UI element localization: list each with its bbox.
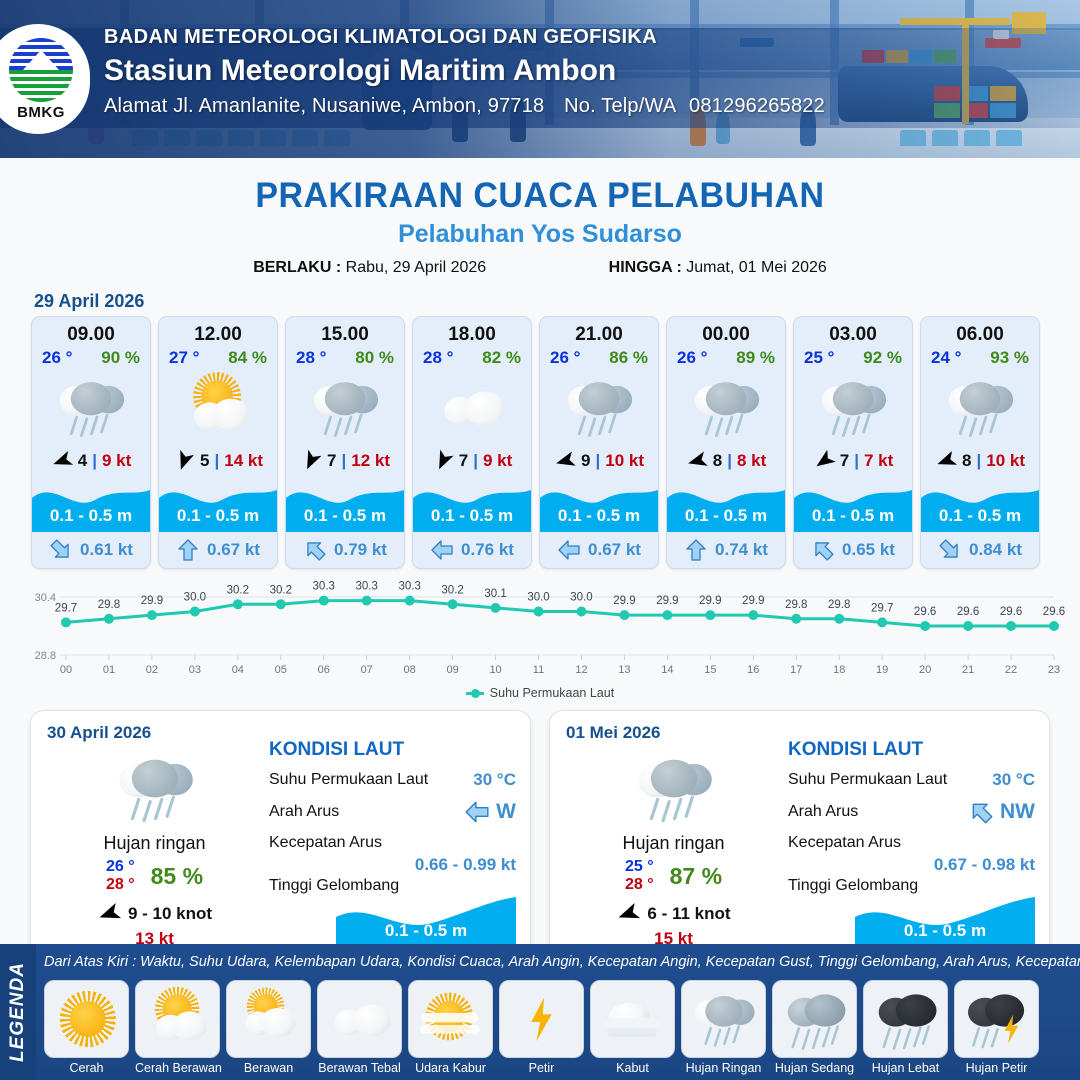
cloud-white <box>465 391 505 426</box>
current-speed: 0.79 kt <box>334 540 387 560</box>
until-label: HINGGA : <box>609 259 682 276</box>
temp-humidity-row: 25 °92 % <box>794 346 912 368</box>
panel-wind-speed: 6 - 11 knot <box>647 904 730 924</box>
wind-row: 8|10 kt <box>921 446 1039 476</box>
rain-streak <box>715 417 724 437</box>
cloud-grey <box>650 760 696 798</box>
legend-item[interactable]: Berawan Tebal <box>317 980 402 1075</box>
cloud-grey <box>71 382 111 415</box>
cloud-grey <box>325 382 365 415</box>
fog-band <box>604 1018 660 1027</box>
weather-icon-cerah-berawan <box>142 989 213 1049</box>
wind-speed: 7 <box>327 451 336 471</box>
current-row: 0.84 kt <box>921 532 1039 568</box>
weather-icon-cerah-berawan <box>179 375 256 439</box>
legend-item-label: Kabut <box>590 1061 675 1075</box>
sea-conditions: KONDISI LAUTSuhu Permukaan Laut30 °CArah… <box>269 739 516 949</box>
svg-text:30.4: 30.4 <box>35 592 56 604</box>
rain-streak <box>791 1027 800 1049</box>
legend-icon-box <box>590 980 675 1058</box>
rain-streak <box>713 1028 721 1047</box>
legend-item-label: Hujan Lebat <box>863 1061 948 1075</box>
rain-streak <box>979 415 988 435</box>
weather-icon-cerah <box>51 989 122 1049</box>
wave-height-block: 0.1 - 0.5 m <box>667 478 785 532</box>
wave-height-value: 0.1 - 0.5 m <box>286 506 404 526</box>
humidity: 90 % <box>101 348 140 368</box>
weather-icon-berawan <box>324 989 395 1049</box>
station-name: Stasiun Meteorologi Maritim Ambon <box>104 54 825 88</box>
current-speed: 0.76 kt <box>461 540 514 560</box>
svg-text:28.8: 28.8 <box>35 650 56 662</box>
svg-text:30.2: 30.2 <box>270 584 292 596</box>
legend-icon-box <box>226 980 311 1058</box>
legend-item[interactable]: Petir <box>499 980 584 1075</box>
legend-item[interactable]: Hujan Sedang <box>772 980 857 1075</box>
legend-item-label: Hujan Ringan <box>681 1061 766 1075</box>
panel-weather-icon <box>566 745 781 831</box>
wind-row: 9|10 kt <box>540 446 658 476</box>
weather-icon-berawan-sun <box>233 989 304 1049</box>
temp-max: 28 ° <box>625 876 654 894</box>
current-direction-label: Arah Arus <box>269 803 339 821</box>
wind-row: 7|9 kt <box>413 446 531 476</box>
rain-streak <box>735 414 744 434</box>
svg-text:29.7: 29.7 <box>55 602 77 614</box>
wave-height-value: 0.1 - 0.5 m <box>667 506 785 526</box>
wind-speed: 9 <box>581 451 590 471</box>
rain-streak <box>852 415 861 435</box>
rain-streak <box>672 798 682 821</box>
rain-streak <box>862 414 871 434</box>
panel-condition: Hujan ringan <box>566 833 781 854</box>
rain-streak <box>723 1027 731 1046</box>
daily-forecast-panel[interactable]: 01 Mei 2026Hujan ringan25 °28 °87 %6 - 1… <box>549 710 1050 958</box>
legend-item[interactable]: Udara Kabur <box>408 980 493 1075</box>
forecast-time: 18.00 <box>413 317 531 346</box>
svg-text:10: 10 <box>489 664 501 676</box>
wind-separator: | <box>341 451 346 471</box>
weather-icon-udara-kabur <box>415 989 486 1049</box>
svg-text:22: 22 <box>1005 664 1017 676</box>
svg-text:30.2: 30.2 <box>227 584 249 596</box>
weather-icon-hujan-ringan <box>306 375 383 439</box>
current-direction-arrow-icon <box>176 538 200 562</box>
legend-item-label: Hujan Sedang <box>772 1061 857 1075</box>
until-value: Jumat, 01 Mei 2026 <box>686 259 827 276</box>
sst-chart: 30.428.800010203040506070809101112131415… <box>14 579 1066 684</box>
current-speed-label: Kecepatan Arus <box>788 834 1035 852</box>
panel-left-column: Hujan ringan25 °28 °87 %6 - 11 knot15 kt <box>566 745 781 949</box>
svg-text:30.3: 30.3 <box>398 581 420 593</box>
forecast-time: 06.00 <box>921 317 1039 346</box>
forecast-card-row: 09.0026 °90 %4|9 kt0.1 - 0.5 m0.61 kt12.… <box>0 316 1080 569</box>
weather-condition-icon <box>540 368 658 446</box>
rain-streak <box>832 415 841 435</box>
temp-min: 25 ° <box>625 858 654 876</box>
svg-text:29.8: 29.8 <box>98 599 120 611</box>
wave-height-block: 0.1 - 0.5 m <box>286 478 404 532</box>
air-temperature: 25 ° <box>804 348 834 368</box>
humidity: 93 % <box>990 348 1029 368</box>
rain-streak <box>725 415 734 435</box>
cloud-grey <box>579 382 619 415</box>
cloud-grey <box>960 382 1000 415</box>
forecast-day-label: 29 April 2026 <box>34 291 1080 312</box>
cloud-grey <box>705 996 742 1027</box>
rain-streak <box>732 1025 740 1044</box>
legend-item-label: Cerah <box>44 1061 129 1075</box>
wind-separator: | <box>595 451 600 471</box>
forecast-card[interactable]: 00.0026 °89 %8|8 kt0.1 - 0.5 m0.74 kt <box>666 316 786 569</box>
chart-legend-label: Suhu Permukaan Laut <box>490 686 614 700</box>
current-row: 0.67 kt <box>159 532 277 568</box>
weather-icon-hujan-ringan <box>941 375 1018 439</box>
title-block: PRAKIRAAN CUACA PELABUHAN Pelabuhan Yos … <box>0 176 1080 277</box>
gust-speed: 9 kt <box>483 451 512 471</box>
temp-humidity-row: 28 °80 % <box>286 346 404 368</box>
legend-item[interactable]: Kabut <box>590 980 675 1075</box>
sea-conditions: KONDISI LAUTSuhu Permukaan Laut30 °CArah… <box>788 739 1035 949</box>
svg-text:05: 05 <box>275 664 287 676</box>
forecast-card[interactable]: 09.0026 °90 %4|9 kt0.1 - 0.5 m0.61 kt <box>31 316 151 569</box>
legend-icon-box <box>499 980 584 1058</box>
wave-height-block: 0.1 - 0.5 m <box>32 478 150 532</box>
wind-direction-arrow-icon <box>552 448 579 475</box>
wind-separator: | <box>92 451 97 471</box>
wave-height-value: 0.1 - 0.5 m <box>32 506 150 526</box>
svg-text:16: 16 <box>747 664 759 676</box>
lightning-bolt <box>1004 1015 1019 1044</box>
forecast-time: 15.00 <box>286 317 404 346</box>
wave-height-block: 0.1 - 0.5 m <box>413 478 531 532</box>
legend-bar: LEGENDA Dari Atas Kiri : Waktu, Suhu Uda… <box>0 944 1080 1080</box>
svg-text:30.2: 30.2 <box>441 584 463 596</box>
wind-speed: 7 <box>459 451 468 471</box>
weather-condition-icon <box>413 368 531 446</box>
sst-value: 30 °C <box>992 770 1035 790</box>
rain-streak <box>972 1027 981 1047</box>
wind-direction-arrow-icon <box>428 446 457 475</box>
current-speed-value: 0.66 - 0.99 kt <box>269 855 516 875</box>
wave-height-block: 0.1 - 0.5 m <box>540 478 658 532</box>
wind-speed: 8 <box>713 451 722 471</box>
current-direction-arrow-icon <box>933 533 967 567</box>
weather-condition-icon <box>921 368 1039 446</box>
gust-speed: 10 kt <box>986 451 1025 471</box>
phone-label: No. Telp/WA <box>564 95 675 117</box>
current-direction-arrow-icon <box>806 533 840 567</box>
cloud-white <box>212 399 249 430</box>
svg-text:29.9: 29.9 <box>656 595 678 607</box>
weather-icon-hujan-ringan <box>814 375 891 439</box>
gust-speed: 8 kt <box>737 451 766 471</box>
rain-streak <box>684 795 694 818</box>
phone-number: 081296265822 <box>689 95 825 117</box>
wave-row: Tinggi Gelombang0.1 - 0.5 m <box>269 877 516 949</box>
wind-speed: 4 <box>78 451 87 471</box>
wind-separator: | <box>727 451 732 471</box>
svg-text:11: 11 <box>533 664 544 676</box>
sea-conditions-header: KONDISI LAUT <box>788 739 1035 761</box>
svg-text:04: 04 <box>232 664 244 676</box>
legend-item[interactable]: Berawan <box>226 980 311 1075</box>
current-direction-arrow-icon <box>963 794 1000 831</box>
haze-band <box>420 1025 480 1034</box>
svg-text:09: 09 <box>446 664 458 676</box>
chart-legend: Suhu Permukaan Laut <box>0 686 1080 700</box>
current-row: 0.61 kt <box>32 532 150 568</box>
bmkg-emblem-icon <box>9 38 73 102</box>
sst-label: Suhu Permukaan Laut <box>269 771 428 789</box>
temp-humidity-row: 26 °86 % <box>540 346 658 368</box>
sst-row: Suhu Permukaan Laut30 °C <box>788 770 1035 790</box>
validity-row: BERLAKU : Rabu, 29 April 2026 HINGGA : J… <box>0 259 1080 277</box>
rain-streak <box>598 415 607 435</box>
current-speed: 0.74 kt <box>715 540 768 560</box>
weather-icon-hujan-ringan <box>688 989 759 1049</box>
current-direction-value: W <box>496 800 516 824</box>
rain-streak <box>130 798 140 821</box>
current-direction-arrow-icon <box>464 799 490 825</box>
legend-item[interactable]: Cerah Berawan <box>135 980 220 1075</box>
current-direction-value-group: W <box>464 799 516 825</box>
air-temperature: 28 ° <box>296 348 326 368</box>
svg-text:29.6: 29.6 <box>957 606 979 618</box>
current-speed: 0.65 kt <box>842 540 895 560</box>
rain-streak <box>842 417 851 437</box>
rain-streak <box>913 1026 922 1048</box>
cloud-grey <box>131 760 177 798</box>
forecast-card[interactable]: 06.0024 °93 %8|10 kt0.1 - 0.5 m0.84 kt <box>920 316 1040 569</box>
svg-text:17: 17 <box>790 664 802 676</box>
forecast-time: 09.00 <box>32 317 150 346</box>
svg-text:29.8: 29.8 <box>785 599 807 611</box>
temp-humidity-row: 26 °89 % <box>667 346 785 368</box>
forecast-card[interactable]: 12.0027 °84 %5|14 kt0.1 - 0.5 m0.67 kt <box>158 316 278 569</box>
svg-text:00: 00 <box>60 664 72 676</box>
svg-text:29.7: 29.7 <box>871 602 893 614</box>
panel-wave-block: 0.1 - 0.5 m <box>788 897 1035 949</box>
svg-text:18: 18 <box>833 664 845 676</box>
cloud-grey <box>805 994 846 1026</box>
forecast-card[interactable]: 03.0025 °92 %7|7 kt0.1 - 0.5 m0.65 kt <box>793 316 913 569</box>
wave-height-value: 0.1 - 0.5 m <box>921 506 1039 526</box>
current-row: 0.79 kt <box>286 532 404 568</box>
panel-temp-humidity: 26 °28 °85 % <box>47 858 262 895</box>
legend-icon-box <box>135 980 220 1058</box>
wind-direction-arrow-icon <box>808 446 839 477</box>
panel-wave-value: 0.1 - 0.5 m <box>855 921 1035 941</box>
rain-streak <box>70 415 79 435</box>
air-temperature: 27 ° <box>169 348 199 368</box>
legend-icon-box <box>863 980 948 1058</box>
panel-temp-humidity: 25 °28 °87 % <box>566 858 781 895</box>
wind-row: 7|7 kt <box>794 446 912 476</box>
gust-speed: 12 kt <box>351 451 390 471</box>
svg-text:30.0: 30.0 <box>570 592 592 604</box>
panel-left-column: Hujan ringan26 °28 °85 %9 - 10 knot13 kt <box>47 745 262 949</box>
weather-condition-icon <box>794 368 912 446</box>
svg-text:03: 03 <box>189 664 201 676</box>
svg-text:06: 06 <box>318 664 330 676</box>
cloud-grey <box>833 382 873 415</box>
forecast-card[interactable]: 18.0028 °82 %7|9 kt0.1 - 0.5 m0.76 kt <box>412 316 532 569</box>
rain-streak <box>649 798 659 821</box>
legend-item[interactable]: Hujan Ringan <box>681 980 766 1075</box>
weather-condition-icon <box>286 368 404 446</box>
svg-text:08: 08 <box>404 664 416 676</box>
humidity: 86 % <box>609 348 648 368</box>
legend-icon-box <box>408 980 493 1058</box>
rain-streak <box>165 795 175 818</box>
wind-direction-arrow-icon <box>94 898 125 929</box>
current-speed-row: Kecepatan Arus0.67 - 0.98 kt <box>788 834 1035 875</box>
fog-band <box>607 1028 656 1037</box>
gust-speed: 14 kt <box>224 451 263 471</box>
wind-direction-arrow-icon <box>683 448 710 475</box>
humidity: 84 % <box>228 348 267 368</box>
cloud-white <box>173 1011 207 1040</box>
forecast-time: 03.00 <box>794 317 912 346</box>
legend-item-label: Petir <box>499 1061 584 1075</box>
sst-label: Suhu Permukaan Laut <box>788 771 947 789</box>
valid-label: BERLAKU : <box>253 259 341 276</box>
page-header: BMKG BADAN METEOROLOGI KLIMATOLOGI DAN G… <box>0 0 1080 158</box>
svg-text:29.6: 29.6 <box>1000 606 1022 618</box>
svg-text:21: 21 <box>962 664 974 676</box>
sun-disc <box>70 1001 106 1037</box>
wave-height-block: 0.1 - 0.5 m <box>159 478 277 532</box>
current-row: 0.74 kt <box>667 532 785 568</box>
current-direction-label: Arah Arus <box>788 803 858 821</box>
panel-weather-icon <box>47 745 262 831</box>
gust-speed: 7 kt <box>864 451 893 471</box>
wind-separator: | <box>473 451 478 471</box>
valid-value: Rabu, 29 April 2026 <box>346 259 487 276</box>
svg-text:12: 12 <box>575 664 587 676</box>
weather-icon-hujan-lebat <box>870 989 941 1049</box>
panel-temps: 26 °28 ° <box>106 858 135 895</box>
rain-streak <box>354 414 363 434</box>
daily-forecast-panel[interactable]: 30 April 2026Hujan ringan26 °28 °85 %9 -… <box>30 710 531 958</box>
wind-direction-arrow-icon <box>170 447 198 475</box>
legend-icon-box <box>317 980 402 1058</box>
panel-wind-speed: 9 - 10 knot <box>128 904 212 924</box>
rain-streak <box>903 1028 912 1050</box>
svg-text:02: 02 <box>146 664 158 676</box>
panel-wave-value: 0.1 - 0.5 m <box>336 921 516 941</box>
svg-text:29.9: 29.9 <box>699 595 721 607</box>
weather-icon-hujan-petir <box>961 989 1032 1049</box>
bmkg-logo-text: BMKG <box>17 104 65 121</box>
wind-direction-arrow-icon <box>613 898 644 929</box>
svg-text:29.6: 29.6 <box>914 606 936 618</box>
station-contact: Alamat Jl. Amanlanite, Nusaniwe, Ambon, … <box>104 95 825 118</box>
gust-speed: 9 kt <box>102 451 131 471</box>
current-speed: 0.67 kt <box>588 540 641 560</box>
legend-item[interactable]: Hujan Petir <box>954 980 1039 1075</box>
weather-icon-hujan-sedang <box>779 989 850 1049</box>
rain-streak <box>812 1028 821 1050</box>
svg-text:29.9: 29.9 <box>742 595 764 607</box>
rain-streak <box>588 417 597 437</box>
rain-streak <box>990 1028 999 1048</box>
forecast-card[interactable]: 15.0028 °80 %7|12 kt0.1 - 0.5 m0.79 kt <box>285 316 405 569</box>
wave-label: Tinggi Gelombang <box>269 877 516 895</box>
agency-name: BADAN METEOROLOGI KLIMATOLOGI DAN GEOFIS… <box>104 26 825 49</box>
legend-icon-box <box>44 980 129 1058</box>
weather-condition-icon <box>32 368 150 446</box>
humidity: 89 % <box>736 348 775 368</box>
wave-label: Tinggi Gelombang <box>788 877 1035 895</box>
panel-humidity: 87 % <box>670 863 722 890</box>
panel-wind-row: 6 - 11 knot <box>566 902 781 926</box>
temp-humidity-row: 26 °90 % <box>32 346 150 368</box>
current-direction-row: Arah ArusW <box>269 799 516 825</box>
forecast-time: 00.00 <box>667 317 785 346</box>
air-temperature: 24 ° <box>931 348 961 368</box>
sea-conditions-header: KONDISI LAUT <box>269 739 516 761</box>
weather-icon-hujan-ringan <box>52 375 129 439</box>
svg-text:01: 01 <box>103 664 115 676</box>
lightning-bolt <box>530 998 553 1041</box>
forecast-card[interactable]: 21.0026 °86 %9|10 kt0.1 - 0.5 m0.67 kt <box>539 316 659 569</box>
humidity: 82 % <box>482 348 521 368</box>
current-direction-value: NW <box>1000 800 1035 824</box>
svg-text:30.0: 30.0 <box>184 592 206 604</box>
rain-streak <box>705 415 714 435</box>
rain-streak <box>882 1027 891 1049</box>
svg-text:30.3: 30.3 <box>313 581 335 593</box>
wind-speed: 8 <box>962 451 971 471</box>
page-title: PRAKIRAAN CUACA PELABUHAN <box>16 176 1064 216</box>
rain-streak <box>344 415 353 435</box>
humidity: 80 % <box>355 348 394 368</box>
rain-streak <box>822 1026 831 1048</box>
station-address: Alamat Jl. Amanlanite, Nusaniwe, Ambon, … <box>104 95 544 117</box>
current-speed: 0.67 kt <box>207 540 260 560</box>
air-temperature: 28 ° <box>423 348 453 368</box>
rain-streak <box>969 417 978 437</box>
weather-icon-petir <box>506 989 577 1049</box>
panel-temps: 25 °28 ° <box>625 858 654 895</box>
rain-streak <box>578 415 587 435</box>
daily-panels: 30 April 2026Hujan ringan26 °28 °85 %9 -… <box>0 700 1080 958</box>
haze-band <box>422 1013 478 1022</box>
current-direction-arrow-icon <box>430 538 454 562</box>
legend-item-label: Udara Kabur <box>408 1061 493 1075</box>
legend-item[interactable]: Cerah <box>44 980 129 1075</box>
svg-text:29.9: 29.9 <box>613 595 635 607</box>
legend-item[interactable]: Hujan Lebat <box>863 980 948 1075</box>
legend-note: Dari Atas Kiri : Waktu, Suhu Udara, Kele… <box>44 954 1080 970</box>
current-direction-arrow-icon <box>44 533 78 567</box>
current-direction-row: Arah ArusNW <box>788 799 1035 825</box>
weather-icon-hujan-ringan <box>629 751 717 825</box>
legend-item-label: Hujan Petir <box>954 1061 1039 1075</box>
legend-icon-box <box>772 980 857 1058</box>
legend-icon-box <box>681 980 766 1058</box>
cloud-grey <box>706 382 746 415</box>
current-direction-arrow-icon <box>684 538 708 562</box>
rain-streak <box>324 415 333 435</box>
svg-text:30.0: 30.0 <box>527 592 549 604</box>
rain-streak <box>90 415 99 435</box>
svg-text:29.9: 29.9 <box>141 595 163 607</box>
cloud-white <box>353 1005 390 1037</box>
wind-direction-arrow-icon <box>932 447 960 475</box>
